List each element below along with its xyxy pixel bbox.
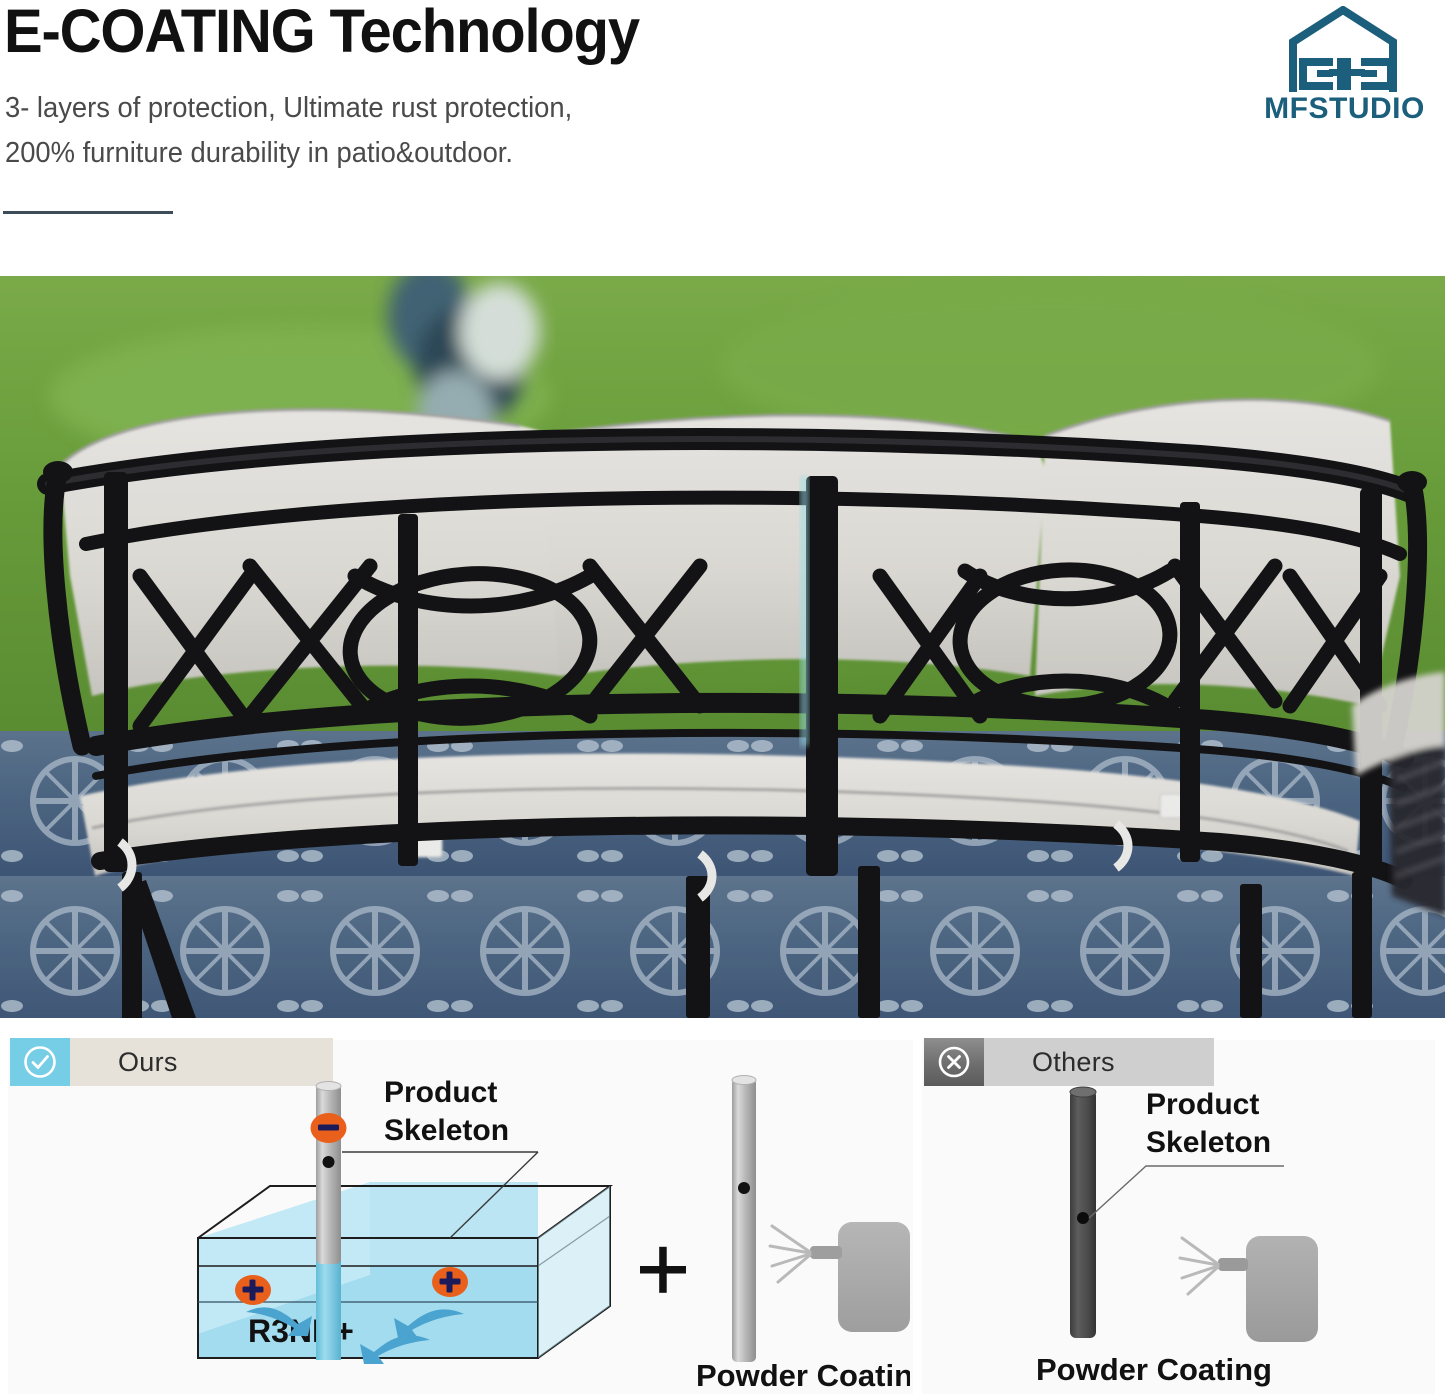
page-subtitle: 3- layers of protection, Ultimate rust p… (5, 86, 850, 176)
comparison-section: Ours Others (0, 1018, 1445, 1394)
plus-operator (640, 1247, 686, 1293)
product-photo (0, 276, 1445, 1018)
minus-ion-badge (311, 1113, 347, 1143)
others-leader-line (1089, 1166, 1284, 1218)
house-outline-icon (1277, 6, 1409, 94)
title-divider (3, 211, 173, 214)
rod-wet-section (316, 1260, 341, 1360)
skeleton-label-line2: Skeleton (384, 1114, 509, 1147)
others-skeleton-label-line2: Skeleton (1146, 1126, 1271, 1159)
others-coating-diagram: Product Skeleton Powder Coating (1000, 1078, 1420, 1390)
powder-coating-rod (732, 1078, 756, 1362)
page-title: E-COATING Technology (4, 0, 639, 66)
skeleton-label-line1: Product (384, 1076, 497, 1109)
ours-ecoating-diagram: R3NH+ (120, 1070, 910, 1390)
header: E-COATING Technology 3- layers of protec… (0, 0, 1445, 276)
plus-ion-badge-left (235, 1275, 271, 1305)
spray-gun-icon (770, 1222, 910, 1332)
plus-ion-badge-right (432, 1267, 468, 1297)
others-skeleton-label-line1: Product (1146, 1088, 1259, 1121)
others-powder-label: Powder Coating (1036, 1352, 1272, 1387)
logo-wordmark: MFSTUDIO (1247, 92, 1442, 126)
product-skeleton-rod (316, 1084, 341, 1264)
check-circle-icon (10, 1038, 70, 1086)
ours-powder-label: Powder Coating (696, 1358, 910, 1390)
others-spray-gun-icon (1180, 1236, 1318, 1342)
brand-logo: MFSTUDIO (1247, 6, 1442, 128)
x-circle-icon (924, 1038, 984, 1086)
